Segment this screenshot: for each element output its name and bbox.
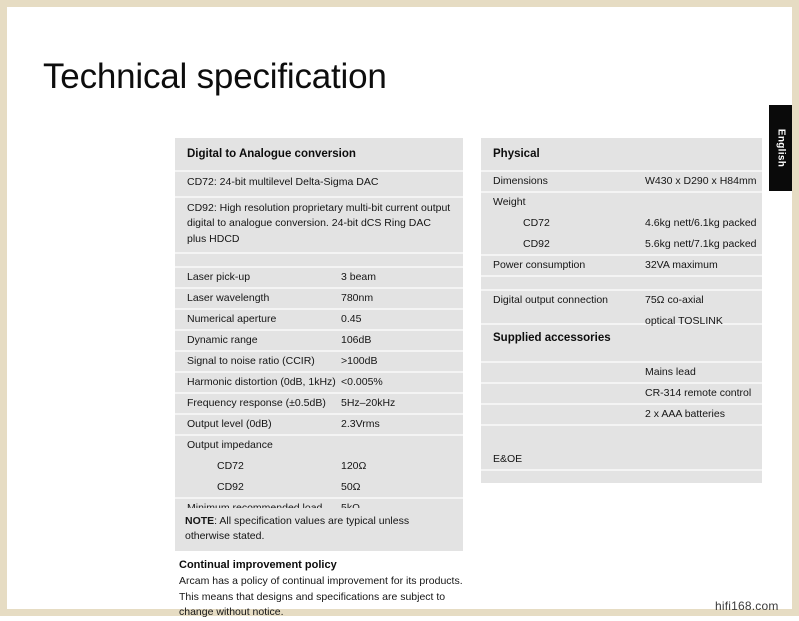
spec-value: 75Ω co-axial — [645, 294, 704, 307]
errors-and-omissions-note: E&OE — [481, 448, 762, 469]
spec-label: Output level (0dB) — [187, 418, 272, 431]
spec-value: 50Ω — [341, 481, 361, 494]
accessory-name: Mains lead — [645, 366, 696, 379]
spec-label: Weight — [493, 196, 526, 209]
spec-panel-physical: Physical Dimensions W430 x D290 x H84mm … — [481, 138, 762, 432]
table-row: Numerical aperture 0.45 — [175, 308, 463, 329]
table-row: Output level (0dB) 2.3Vrms — [175, 413, 463, 434]
spec-value: 2.3Vrms — [341, 418, 380, 431]
panel-heading-digital-to-analogue-conversion: Digital to Analogue conversion — [175, 138, 463, 170]
errors-and-omissions-label: E&OE — [493, 453, 522, 466]
spec-value: 106dB — [341, 334, 371, 347]
list-item: Mains lead — [481, 361, 762, 382]
panel-bottom-divider — [481, 469, 762, 483]
table-row: optical TOSLINK — [481, 310, 762, 323]
list-item: CR-314 remote control — [481, 382, 762, 403]
spec-value: 32VA maximum — [645, 259, 718, 272]
spec-block-cd72-dac: CD72: 24-bit multilevel Delta-Sigma DAC — [175, 170, 463, 196]
continual-improvement-policy: Continual improvement policy Arcam has a… — [179, 558, 479, 621]
spec-row-group-laser-and-audio: Laser pick-up 3 beam Laser wavelength 78… — [175, 266, 463, 518]
spec-label — [493, 366, 496, 379]
spec-value: >100dB — [341, 355, 378, 368]
table-row: CD72 120Ω — [175, 455, 463, 476]
spec-label: Dynamic range — [187, 334, 258, 347]
list-item: 2 x AAA batteries — [481, 403, 762, 424]
spec-label: Dimensions — [493, 175, 548, 188]
spec-label: Numerical aperture — [187, 313, 276, 326]
spec-label: Laser pick-up — [187, 271, 250, 284]
spec-label: Laser wavelength — [187, 292, 269, 305]
spec-label: Output impedance — [187, 439, 273, 452]
spec-row-group-digital-output: Digital output connection 75Ω co-axial o… — [481, 289, 762, 323]
accessory-name: CR-314 remote control — [645, 387, 751, 400]
spec-label: Power consumption — [493, 259, 585, 272]
note-label: NOTE — [185, 515, 214, 527]
table-row: Harmonic distortion (0dB, 1kHz) <0.005% — [175, 371, 463, 392]
spec-value: 3 beam — [341, 271, 376, 284]
table-row: CD92 50Ω — [175, 476, 463, 497]
spec-label: CD72 — [187, 460, 244, 473]
spec-value: optical TOSLINK — [645, 315, 723, 328]
panel-spacer — [481, 351, 762, 361]
spec-row-group-accessories: Mains lead CR-314 remote control 2 x AAA… — [481, 361, 762, 424]
spec-value: 5.6kg nett/7.1kg packed — [645, 238, 757, 251]
spec-value: 5Hz–20kHz — [341, 397, 395, 410]
spec-value: <0.005% — [341, 376, 383, 389]
panel-spacer — [481, 438, 762, 448]
table-row: Power consumption 32VA maximum — [481, 254, 762, 275]
spec-value: 780nm — [341, 292, 373, 305]
table-row: Laser wavelength 780nm — [175, 287, 463, 308]
panel-heading-physical: Physical — [481, 138, 762, 170]
note-text: : All specification values are typical u… — [185, 515, 409, 542]
table-row: Output impedance — [175, 434, 463, 455]
spec-label: Frequency response (±0.5dB) — [187, 397, 326, 410]
table-row: Laser pick-up 3 beam — [175, 266, 463, 287]
spec-value: 120Ω — [341, 460, 366, 473]
spec-label: CD92 — [493, 238, 550, 251]
page-sheet: Technical specification Digital to Analo… — [7, 7, 792, 609]
spec-value: W430 x D290 x H84mm — [645, 175, 756, 188]
language-tab-english[interactable]: English — [769, 105, 792, 191]
table-row: Signal to noise ratio (CCIR) >100dB — [175, 350, 463, 371]
table-row: CD72 4.6kg nett/6.1kg packed — [481, 212, 762, 233]
table-row: Dimensions W430 x D290 x H84mm — [481, 170, 762, 191]
spec-label: CD92 — [187, 481, 244, 494]
spec-block-cd92-dac: CD92: High resolution proprietary multi-… — [175, 196, 463, 253]
spec-label: Harmonic distortion (0dB, 1kHz) — [187, 376, 336, 389]
panel-divider — [481, 275, 762, 289]
spec-row-group-physical: Dimensions W430 x D290 x H84mm Weight CD… — [481, 170, 762, 275]
table-row: Dynamic range 106dB — [175, 329, 463, 350]
spec-label: Digital output connection — [493, 294, 608, 307]
spec-label: CD72 — [493, 217, 550, 230]
spec-value: 4.6kg nett/6.1kg packed — [645, 217, 757, 230]
table-row: Weight — [481, 191, 762, 212]
spec-label: Signal to noise ratio (CCIR) — [187, 355, 315, 368]
page-title: Technical specification — [43, 57, 387, 97]
note-box: NOTE: All specification values are typic… — [175, 508, 463, 551]
table-row: Digital output connection 75Ω co-axial — [481, 289, 762, 310]
watermark: hifi168.com — [715, 599, 779, 613]
language-tab-label: English — [775, 129, 786, 167]
panel-divider — [481, 424, 762, 438]
panel-divider — [175, 252, 463, 266]
policy-title: Continual improvement policy — [179, 558, 479, 573]
spec-value: 0.45 — [341, 313, 361, 326]
table-row: CD92 5.6kg nett/7.1kg packed — [481, 233, 762, 254]
table-row: Frequency response (±0.5dB) 5Hz–20kHz — [175, 392, 463, 413]
spec-panel-digital-to-analogue-conversion: Digital to Analogue conversion CD72: 24-… — [175, 138, 463, 432]
policy-body: Arcam has a policy of continual improvem… — [179, 574, 479, 621]
spec-label — [493, 408, 496, 421]
accessory-name: 2 x AAA batteries — [645, 408, 725, 421]
spec-label — [493, 387, 496, 400]
